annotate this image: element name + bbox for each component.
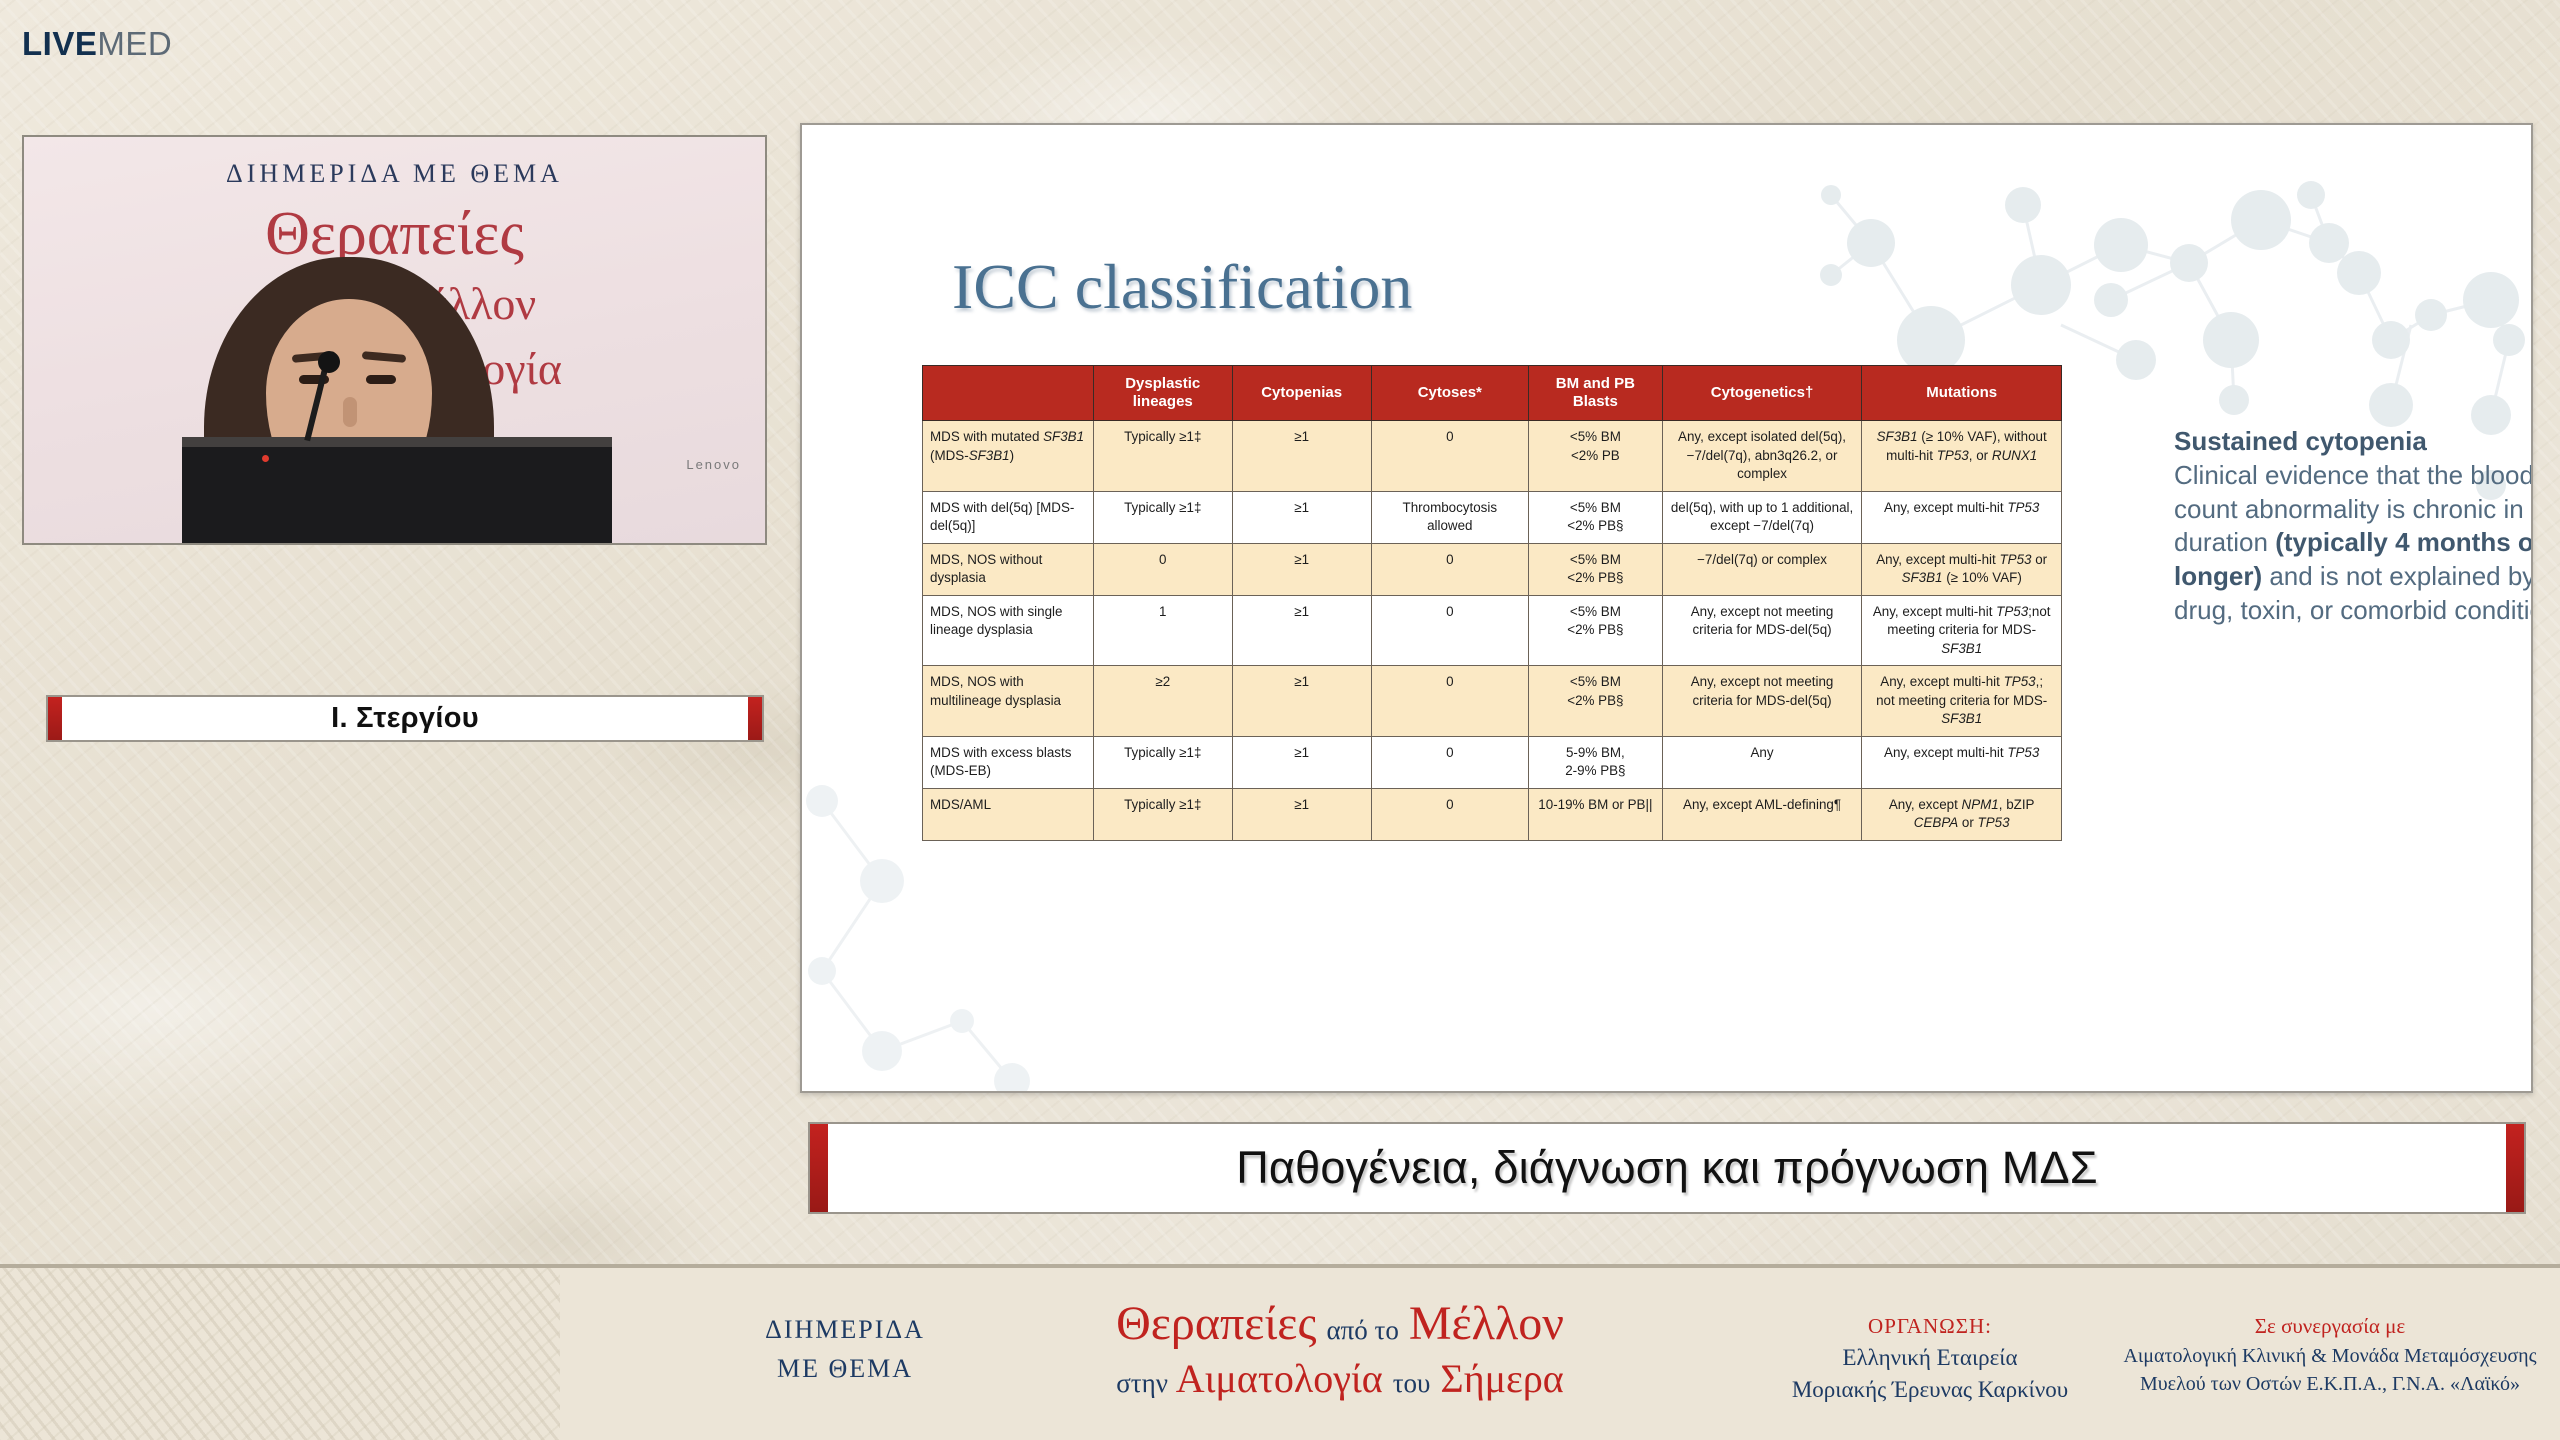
table-cell: Any, except isolated del(5q), −7/del(7q)… bbox=[1662, 421, 1862, 492]
slide-title: ICC classification bbox=[952, 250, 1412, 324]
table-cell: 0 bbox=[1371, 736, 1528, 788]
footer-word-therapies: Θεραπείες bbox=[1116, 1297, 1316, 1350]
table-cell-entity: MDS, NOS with single lineage dysplasia bbox=[923, 595, 1094, 666]
table-cell: Any, except AML-defining¶ bbox=[1662, 788, 1862, 840]
icc-classification-table: Dysplastic lineages Cytopenias Cytoses* … bbox=[922, 365, 2062, 841]
logo-text-live: LIVE bbox=[22, 25, 97, 62]
building-engraving-decoration bbox=[0, 1268, 560, 1440]
speaker-name-bar: Ι. Στεργίου bbox=[46, 695, 764, 742]
table-cell: Any, except multi-hit TP53 bbox=[1862, 491, 2062, 543]
table-cell: Typically ≥1‡ bbox=[1093, 788, 1232, 840]
footer-organizer-line-1: Ελληνική Εταιρεία bbox=[1790, 1342, 2070, 1375]
table-cell: <5% BM<2% PB bbox=[1529, 421, 1663, 492]
table-row: MDS/AMLTypically ≥1‡≥1010-19% BM or PB||… bbox=[923, 788, 2062, 840]
footer-collaboration-line-1: Αιματολογική Κλινική & Μονάδα Μεταμόσχευ… bbox=[2110, 1342, 2550, 1370]
table-cell: SF3B1 (≥ 10% VAF), without multi-hit TP5… bbox=[1862, 421, 2062, 492]
table-cell: −7/del(7q) or complex bbox=[1662, 543, 1862, 595]
footer-collaboration-heading: Σε συνεργασία με bbox=[2110, 1312, 2550, 1342]
table-row: MDS, NOS with single lineage dysplasia1≥… bbox=[923, 595, 2062, 666]
footer-event-title: Θεραπείες από το Μέλλον στην Αιματολογία… bbox=[1020, 1294, 1660, 1404]
table-cell: <5% BM<2% PB§ bbox=[1529, 491, 1663, 543]
video-panel[interactable]: ΔΙΗΜΕΡΙΔΑ ΜΕ ΘΕΜΑ Θεραπείες από το Μέλλο… bbox=[22, 135, 767, 555]
footer-word-from-the: από το bbox=[1326, 1315, 1398, 1345]
footer-collaboration-line-2: Μυελού των Οστών Ε.Κ.Π.Α., Γ.Ν.Α. «Λαϊκό… bbox=[2110, 1370, 2550, 1398]
table-cell-entity: MDS, NOS with multilineage dysplasia bbox=[923, 666, 1094, 737]
table-cell: ≥1 bbox=[1232, 666, 1371, 737]
table-cell: 0 bbox=[1371, 788, 1528, 840]
col-header-dysplastic-lineages: Dysplastic lineages bbox=[1093, 366, 1232, 421]
table-body: MDS with mutated SF3B1 (MDS-SF3B1)Typica… bbox=[923, 421, 2062, 841]
table-cell: Thrombocytosis allowed bbox=[1371, 491, 1528, 543]
table-row: MDS with excess blasts (MDS-EB)Typically… bbox=[923, 736, 2062, 788]
table-cell: Any bbox=[1662, 736, 1862, 788]
podium-top-edge bbox=[182, 437, 612, 447]
speaker-eye-right bbox=[366, 375, 396, 384]
table-cell: Any, except multi-hit TP53;not meeting c… bbox=[1862, 595, 2062, 666]
table-cell-entity: MDS with excess blasts (MDS-EB) bbox=[923, 736, 1094, 788]
table-cell: ≥1 bbox=[1232, 736, 1371, 788]
table-cell: 10-19% BM or PB|| bbox=[1529, 788, 1663, 840]
table-cell: Typically ≥1‡ bbox=[1093, 421, 1232, 492]
footer-title-row-1: Θεραπείες από το Μέλλον bbox=[1020, 1294, 1660, 1354]
footer-collaboration: Σε συνεργασία με Αιματολογική Κλινική & … bbox=[2110, 1312, 2550, 1399]
speaker-name: Ι. Στεργίου bbox=[331, 702, 479, 735]
table-cell: Any, except multi-hit TP53 bbox=[1862, 736, 2062, 788]
footer-word-today: Σήμερα bbox=[1440, 1356, 1563, 1401]
note-heading: Sustained cytopenia bbox=[2174, 426, 2427, 456]
microphone-icon bbox=[318, 351, 340, 373]
table-cell: Typically ≥1‡ bbox=[1093, 491, 1232, 543]
col-header-cytogenetics: Cytogenetics† bbox=[1662, 366, 1862, 421]
col-header-mutations: Mutations bbox=[1862, 366, 2062, 421]
col-header-cytoses: Cytoses* bbox=[1371, 366, 1528, 421]
speaker-nose bbox=[343, 397, 357, 427]
table-cell: del(5q), with up to 1 additional, except… bbox=[1662, 491, 1862, 543]
sustained-cytopenia-note: Sustained cytopenia Clinical evidence th… bbox=[2174, 425, 2533, 628]
table-cell: ≥1 bbox=[1232, 543, 1371, 595]
table-cell: ≥1 bbox=[1232, 491, 1371, 543]
table-cell-entity: MDS, NOS without dysplasia bbox=[923, 543, 1094, 595]
footer-organizer-heading: ΟΡΓΑΝΩΣΗ: bbox=[1790, 1312, 2070, 1342]
laptop-brand-label: Lenovo bbox=[686, 457, 741, 472]
footer-event-line-2: ΜΕ ΘΕΜΑ bbox=[735, 1349, 955, 1388]
table-cell: Any, except not meeting criteria for MDS… bbox=[1662, 595, 1862, 666]
table-cell: <5% BM<2% PB§ bbox=[1529, 666, 1663, 737]
footer-word-future: Μέλλον bbox=[1409, 1297, 1564, 1350]
col-header-bm-pb-blasts: BM and PB Blasts bbox=[1529, 366, 1663, 421]
table-row: MDS, NOS without dysplasia0≥10<5% BM<2% … bbox=[923, 543, 2062, 595]
table-row: MDS, NOS with multilineage dysplasia≥2≥1… bbox=[923, 666, 2062, 737]
footer-word-of: του bbox=[1393, 1368, 1431, 1398]
col-header-cytopenias: Cytopenias bbox=[1232, 366, 1371, 421]
table-cell: ≥1 bbox=[1232, 421, 1371, 492]
livemed-logo[interactable]: LIVEMED bbox=[22, 25, 172, 63]
table-cell: ≥1 bbox=[1232, 595, 1371, 666]
table-header-row: Dysplastic lineages Cytopenias Cytoses* … bbox=[923, 366, 2062, 421]
footer-word-in-the: στην bbox=[1116, 1368, 1168, 1398]
table-cell: ≥2 bbox=[1093, 666, 1232, 737]
table-cell: Any, except multi-hit TP53,; not meeting… bbox=[1862, 666, 2062, 737]
table-cell: <5% BM<2% PB§ bbox=[1529, 543, 1663, 595]
podium bbox=[182, 437, 612, 545]
footer: ΔΙΗΜΕΡΙΔΑ ΜΕ ΘΕΜΑ Θεραπείες από το Μέλλο… bbox=[0, 1264, 2560, 1440]
backdrop-line-1: ΔΙΗΜΕΡΙΔΑ ΜΕ ΘΕΜΑ bbox=[24, 159, 765, 189]
footer-organizer-line-2: Μοριακής Έρευνας Καρκίνου bbox=[1790, 1374, 2070, 1407]
table-cell: 1 bbox=[1093, 595, 1232, 666]
table-cell-entity: MDS/AML bbox=[923, 788, 1094, 840]
led-indicator bbox=[262, 455, 269, 462]
table-cell-entity: MDS with del(5q) [MDS-del(5q)] bbox=[923, 491, 1094, 543]
table-cell: 0 bbox=[1371, 421, 1528, 492]
top-band: LIVEMED bbox=[0, 0, 2560, 82]
table-cell: Any, except NPM1, bZIP CEBPA or TP53 bbox=[1862, 788, 2062, 840]
footer-title-row-2: στην Αιματολογία του Σήμερα bbox=[1020, 1354, 1660, 1404]
table-cell: 0 bbox=[1371, 543, 1528, 595]
video-frame[interactable]: ΔΙΗΜΕΡΙΔΑ ΜΕ ΘΕΜΑ Θεραπείες από το Μέλλο… bbox=[22, 135, 767, 545]
table-cell: 0 bbox=[1371, 666, 1528, 737]
footer-word-hematology: Αιματολογία bbox=[1176, 1356, 1383, 1401]
table-cell: Any, except not meeting criteria for MDS… bbox=[1662, 666, 1862, 737]
col-header-entity bbox=[923, 366, 1094, 421]
table-cell-entity: MDS with mutated SF3B1 (MDS-SF3B1) bbox=[923, 421, 1094, 492]
table-cell: 0 bbox=[1371, 595, 1528, 666]
footer-event-label: ΔΙΗΜΕΡΙΔΑ ΜΕ ΘΕΜΑ bbox=[735, 1310, 955, 1388]
table-cell: Typically ≥1‡ bbox=[1093, 736, 1232, 788]
footer-event-line-1: ΔΙΗΜΕΡΙΔΑ bbox=[735, 1310, 955, 1349]
table-row: MDS with del(5q) [MDS-del(5q)]Typically … bbox=[923, 491, 2062, 543]
table-cell: 5-9% BM,2-9% PB§ bbox=[1529, 736, 1663, 788]
table-row: MDS with mutated SF3B1 (MDS-SF3B1)Typica… bbox=[923, 421, 2062, 492]
table-cell: 0 bbox=[1093, 543, 1232, 595]
session-title-bar: Παθογένεια, διάγνωση και πρόγνωση ΜΔΣ bbox=[808, 1122, 2526, 1214]
presentation-slide[interactable]: ICC classification Dysplastic lineages C… bbox=[800, 123, 2533, 1093]
session-title: Παθογένεια, διάγνωση και πρόγνωση ΜΔΣ bbox=[1236, 1142, 2098, 1194]
logo-text-med: MED bbox=[97, 25, 172, 62]
table-cell: Any, except multi-hit TP53 or SF3B1 (≥ 1… bbox=[1862, 543, 2062, 595]
table-cell: <5% BM<2% PB§ bbox=[1529, 595, 1663, 666]
footer-organizer: ΟΡΓΑΝΩΣΗ: Ελληνική Εταιρεία Μοριακής Έρε… bbox=[1790, 1312, 2070, 1407]
table-cell: ≥1 bbox=[1232, 788, 1371, 840]
